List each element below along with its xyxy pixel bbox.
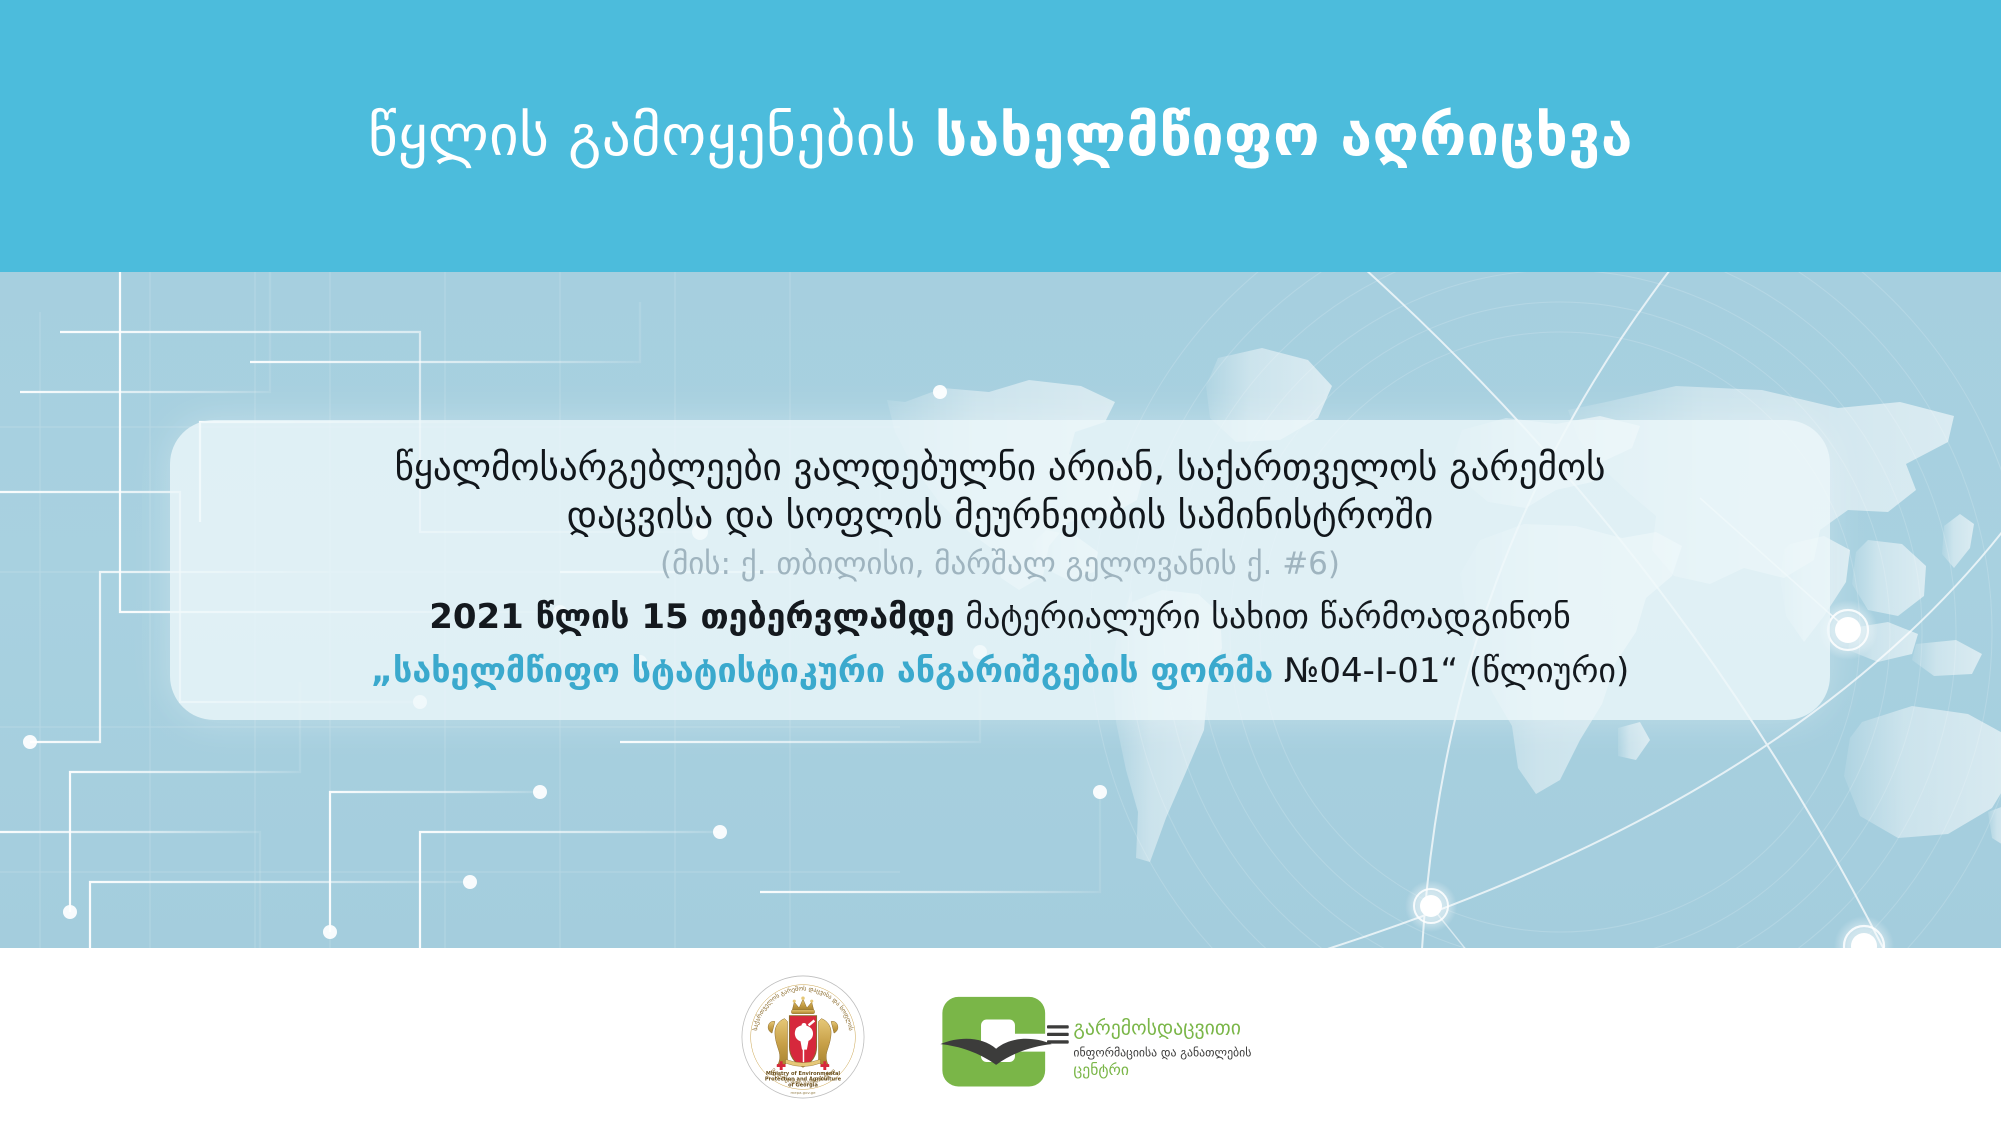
announcement-form-reference: „სახელმწიფო სტატისტიკური ანგარიშგების ფო… bbox=[371, 647, 1630, 697]
announcement-line-1: წყალმოსარგებლეები ვალდებულნი არიან, საქა… bbox=[395, 444, 1606, 492]
seal-caption-line-3: of Georgia bbox=[788, 1082, 818, 1088]
page-title-bold: სახელმწიფო აღრიცხვა bbox=[935, 103, 1633, 169]
announcement-card: წყალმოსარგებლეები ვალდებულნი არიან, საქა… bbox=[170, 420, 1830, 720]
page-title: წყლის გამოყენების სახელმწიფო აღრიცხვა bbox=[368, 105, 1633, 168]
form-name: „სახელმწიფო სტატისტიკური ანგარიშგების ფო… bbox=[371, 651, 1274, 691]
map-marker-australia bbox=[1834, 916, 1894, 948]
eiec-title: გარემოსდაცვითი bbox=[1073, 1017, 1241, 1040]
seal-url-text: mepa.gov.ge bbox=[790, 1090, 816, 1095]
hero-section: წყალმოსარგებლეები ვალდებულნი არიან, საქა… bbox=[0, 272, 2001, 948]
deadline-date: 2021 წლის 15 თებერვლამდე bbox=[429, 597, 954, 637]
header-band: წყლის გამოყენების სახელმწიფო აღრიცხვა bbox=[0, 0, 2001, 272]
eiec-logo-icon: გარემოსდაცვითი ინფორმაციისა და განათლები… bbox=[932, 978, 1262, 1096]
announcement-line-2: დაცვისა და სოფლის მეურნეობის სამინისტროშ… bbox=[567, 492, 1434, 540]
ministry-seal-icon: საქართველოს გარემოს დაცვისა და სოფლის მე… bbox=[740, 974, 866, 1100]
seal-caption-line-1: Ministry of Environmental bbox=[765, 1071, 840, 1077]
form-number: №04-I-01“ (წლიური) bbox=[1273, 651, 1629, 691]
eiec-subtitle-1: ინფორმაციისა და განათლების bbox=[1073, 1045, 1251, 1059]
seal-caption-line-2: Protection and Agriculture bbox=[764, 1077, 841, 1083]
announcement-card-content: წყალმოსარგებლეები ვალდებულნი არიან, საქა… bbox=[170, 420, 1830, 720]
announcement-deadline: 2021 წლის 15 თებერვლამდე მატერიალური სახ… bbox=[429, 593, 1571, 643]
page-title-light: წყლის გამოყენების bbox=[368, 103, 935, 169]
eiec-subtitle-2: ცენტრი bbox=[1073, 1061, 1129, 1079]
footer-logo-bar: საქართველოს გარემოს დაცვისა და სოფლის მე… bbox=[0, 948, 2001, 1126]
poster: წყლის გამოყენების სახელმწიფო აღრიცხვა bbox=[0, 0, 2001, 1126]
eiec-line-marks bbox=[1047, 1025, 1069, 1043]
deadline-instruction: მატერიალური სახით წარმოადგინონ bbox=[955, 597, 1571, 637]
announcement-address: (მის: ქ. თბილისი, მარშალ გელოვანის ქ. #6… bbox=[660, 542, 1340, 587]
